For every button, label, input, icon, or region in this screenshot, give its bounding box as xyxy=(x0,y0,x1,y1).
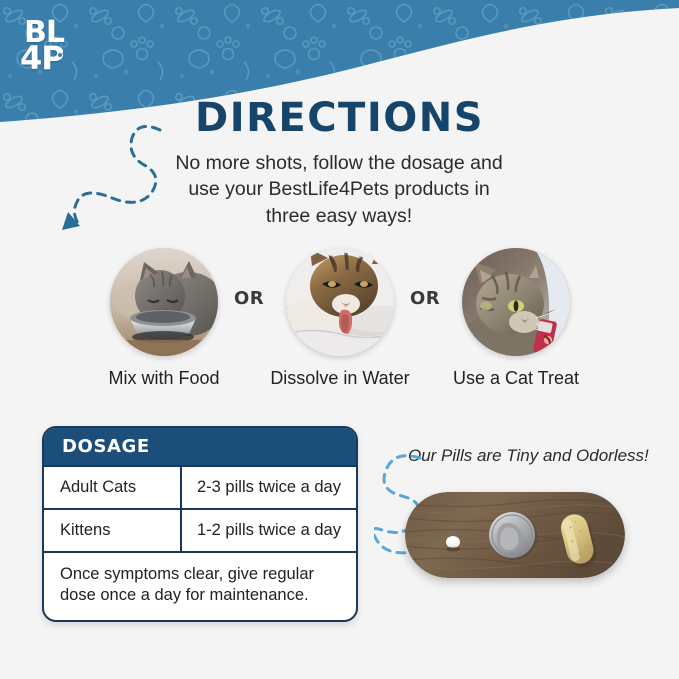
cat-eating-from-bowl-photo xyxy=(110,248,218,356)
method-separator-2: OR xyxy=(410,288,440,309)
table-row: Adult Cats 2-3 pills twice a day xyxy=(44,465,356,508)
method-caption-3: Use a Cat Treat xyxy=(416,368,616,389)
pill-size-comparison-board xyxy=(405,492,625,578)
dosage-row-value-adult-cats: 2-3 pills twice a day xyxy=(182,467,356,508)
method-caption-2: Dissolve in Water xyxy=(240,368,440,389)
dosage-note-line-1: Once symptoms clear, give regular xyxy=(60,564,342,585)
dashed-arrow-icon-top xyxy=(42,108,182,238)
dosage-row-label-adult-cats: Adult Cats xyxy=(44,467,182,508)
subtitle-line-2: use your BestLife4Pets products in xyxy=(139,176,539,202)
subtitle-line-3: three easy ways! xyxy=(139,203,539,229)
method-image-use-a-cat-treat xyxy=(462,248,570,356)
dosage-row-value-kittens: 1-2 pills twice a day xyxy=(182,510,356,551)
methods-row: OR xyxy=(0,246,679,396)
method-caption-1: Mix with Food xyxy=(64,368,264,389)
page-subtitle: No more shots, follow the dosage and use… xyxy=(139,150,539,229)
dosage-card: DOSAGE Adult Cats 2-3 pills twice a day … xyxy=(42,426,358,622)
brand-logo: BL 4P xyxy=(20,18,82,80)
subtitle-line-1: No more shots, follow the dosage and xyxy=(139,150,539,176)
directions-infographic: BL 4P DIRECTIONS No more shots, follow t… xyxy=(0,0,679,679)
dosage-note-line-2: dose once a day for maintenance. xyxy=(60,585,342,606)
method-image-mix-with-food xyxy=(110,248,218,356)
cat-with-treat-photo xyxy=(462,248,570,356)
method-image-dissolve-in-water xyxy=(286,248,394,356)
dosage-heading: DOSAGE xyxy=(44,428,356,465)
dosage-row-label-kittens: Kittens xyxy=(44,510,182,551)
table-row: Kittens 1-2 pills twice a day xyxy=(44,508,356,551)
dosage-note: Once symptoms clear, give regular dose o… xyxy=(44,551,356,620)
paw-print-icon xyxy=(56,50,74,68)
cat-drinking-water-photo xyxy=(286,248,394,356)
method-separator-1: OR xyxy=(234,288,264,309)
wooden-board-with-pills-photo xyxy=(405,492,625,578)
